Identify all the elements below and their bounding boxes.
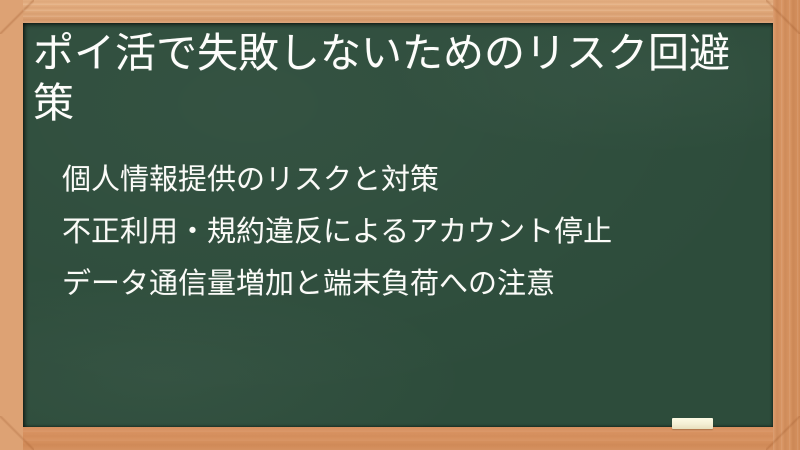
slide-bullet-list: 個人情報提供のリスクと対策 不正利用・規約違反によるアカウント停止 データ通信量… [62, 154, 752, 310]
list-item: 個人情報提供のリスクと対策 [62, 154, 752, 206]
frame-ledge-bottom [0, 426, 800, 450]
list-item: データ通信量増加と端末負荷への注意 [62, 258, 752, 310]
list-item: 不正利用・規約違反によるアカウント停止 [62, 206, 752, 258]
blackboard-surface: ポイ活で失敗しないためのリスク回避策 個人情報提供のリスクと対策 不正利用・規約… [23, 23, 773, 427]
blackboard-slide: ポイ活で失敗しないためのリスク回避策 個人情報提供のリスクと対策 不正利用・規約… [0, 0, 800, 450]
frame-rail-right [773, 0, 800, 450]
frame-rail-left [0, 0, 23, 450]
frame-rail-top [0, 0, 800, 23]
chalk-stick [672, 418, 713, 429]
slide-title: ポイ活で失敗しないためのリスク回避策 [33, 28, 749, 128]
